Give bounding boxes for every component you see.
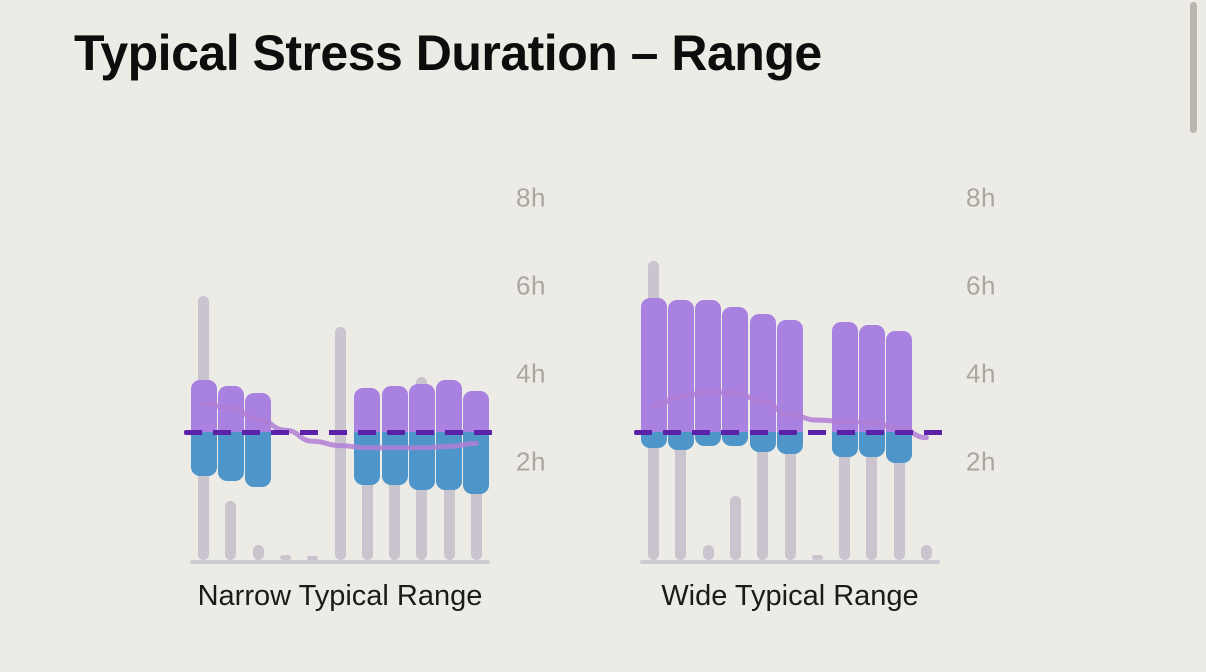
threshold-dashed-line	[634, 430, 946, 435]
y-axis-tick-label: 2h	[966, 447, 996, 478]
plot-area-wide	[640, 200, 940, 565]
y-axis-tick-label: 8h	[966, 183, 996, 214]
y-axis-tick-label: 6h	[516, 271, 546, 302]
page-title: Typical Stress Duration – Range	[74, 24, 822, 82]
y-axis-wide: 8h6h4h2h	[950, 190, 1030, 555]
chart-panel-narrow: 8h6h4h2h Narrow Typical Range	[150, 190, 590, 630]
y-axis-tick-label: 4h	[966, 359, 996, 390]
y-axis-narrow: 8h6h4h2h	[500, 190, 580, 555]
trend-line-layer	[640, 200, 940, 565]
y-axis-tick-label: 8h	[516, 183, 546, 214]
plot-area-narrow	[190, 200, 490, 565]
vertical-scrollbar-thumb[interactable]	[1190, 2, 1197, 133]
trend-line-layer	[190, 200, 490, 565]
y-axis-tick-label: 2h	[516, 447, 546, 478]
y-axis-tick-label: 6h	[966, 271, 996, 302]
chart-panel-wide: 8h6h4h2h Wide Typical Range	[600, 190, 1040, 630]
chart-caption-narrow: Narrow Typical Range	[150, 580, 530, 613]
trend-line	[204, 404, 477, 448]
chart-page: Typical Stress Duration – Range 8h6h4h2h…	[0, 0, 1206, 672]
y-axis-tick-label: 4h	[516, 359, 546, 390]
threshold-dashed-line	[184, 430, 496, 435]
chart-caption-wide: Wide Typical Range	[600, 580, 980, 613]
